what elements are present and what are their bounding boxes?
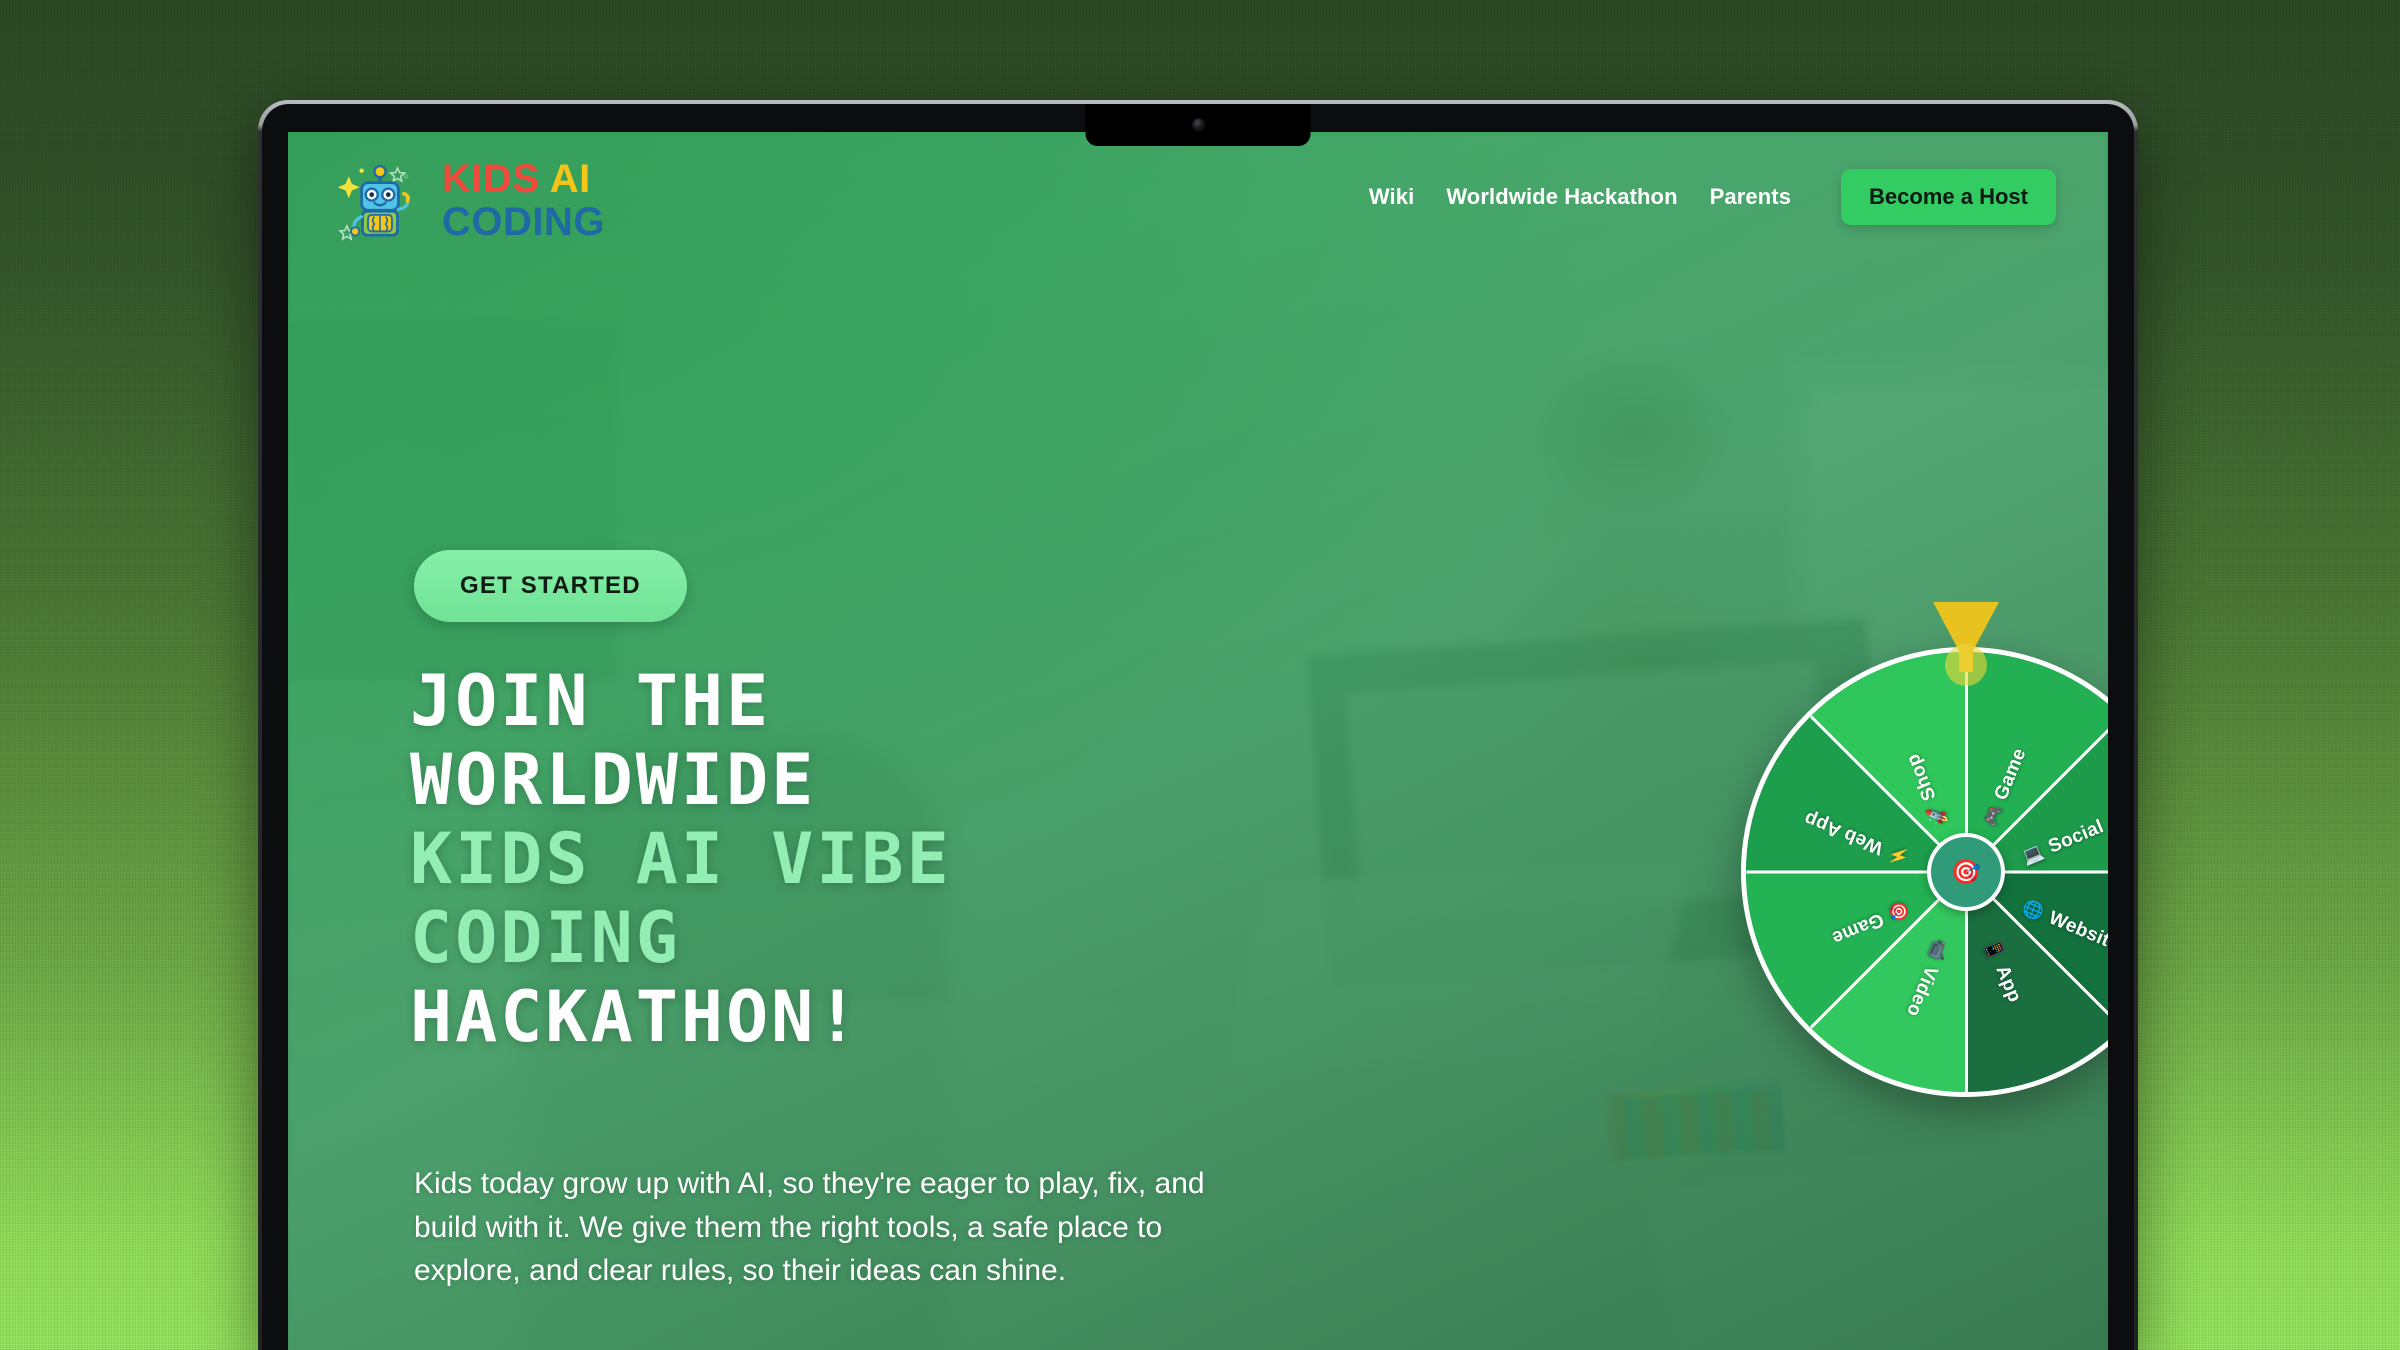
headline-line-2: WORLDWIDE <box>410 741 1490 820</box>
wheel-hub[interactable]: 🎯 <box>1927 833 2005 911</box>
brand-logo[interactable]: KIDS AI CODING <box>334 146 605 248</box>
nav-link-wiki[interactable]: Wiki <box>1365 178 1418 216</box>
laptop-lid: KIDS AI CODING Wiki Worldwide Hackathon … <box>258 100 2138 1350</box>
headline-line-3: KIDS AI VIBE <box>410 820 1490 899</box>
wheel-disc[interactable]: 🎮Game💻Social🌐Website📱App📹Video🎯Game⚡Web … <box>1741 647 2108 1097</box>
hero-headline: JOIN THE WORLDWIDE KIDS AI VIBE CODING H… <box>410 662 1490 1057</box>
brand-line-1: KIDS AI <box>442 159 605 199</box>
nav-link-worldwide-hackathon[interactable]: Worldwide Hackathon <box>1442 178 1681 216</box>
brand-ai-text: AI <box>550 157 591 201</box>
webcam-icon <box>1193 119 1204 130</box>
laptop-mockup: KIDS AI CODING Wiki Worldwide Hackathon … <box>258 100 2138 1350</box>
robot-mascot-icon <box>334 156 426 248</box>
website-screen: KIDS AI CODING Wiki Worldwide Hackathon … <box>288 132 2108 1350</box>
hero-paragraph: Kids today grow up with AI, so they're e… <box>414 1162 1214 1293</box>
headline-line-1: JOIN THE <box>410 662 1490 741</box>
site-navbar: KIDS AI CODING Wiki Worldwide Hackathon … <box>288 132 2108 262</box>
brand-coding-text: CODING <box>442 202 605 242</box>
headline-line-4: CODING <box>410 899 1490 978</box>
get-started-button[interactable]: GET STARTED <box>414 550 687 622</box>
brand-wordmark: KIDS AI CODING <box>442 159 605 246</box>
laptop-bezel: KIDS AI CODING Wiki Worldwide Hackathon … <box>262 104 2134 1350</box>
laptop-notch <box>1086 104 1311 146</box>
become-a-host-button[interactable]: Become a Host <box>1841 169 2056 225</box>
prize-wheel[interactable]: 🎮Game💻Social🌐Website📱App📹Video🎯Game⚡Web … <box>1716 602 2108 1132</box>
brand-kids-text: KIDS <box>442 157 540 201</box>
wheel-pointer-knob <box>1945 644 1987 686</box>
nav-link-parents[interactable]: Parents <box>1706 178 1795 216</box>
navbar-links: Wiki Worldwide Hackathon Parents Become … <box>1365 169 2056 225</box>
headline-line-5: HACKATHON! <box>410 978 1490 1057</box>
